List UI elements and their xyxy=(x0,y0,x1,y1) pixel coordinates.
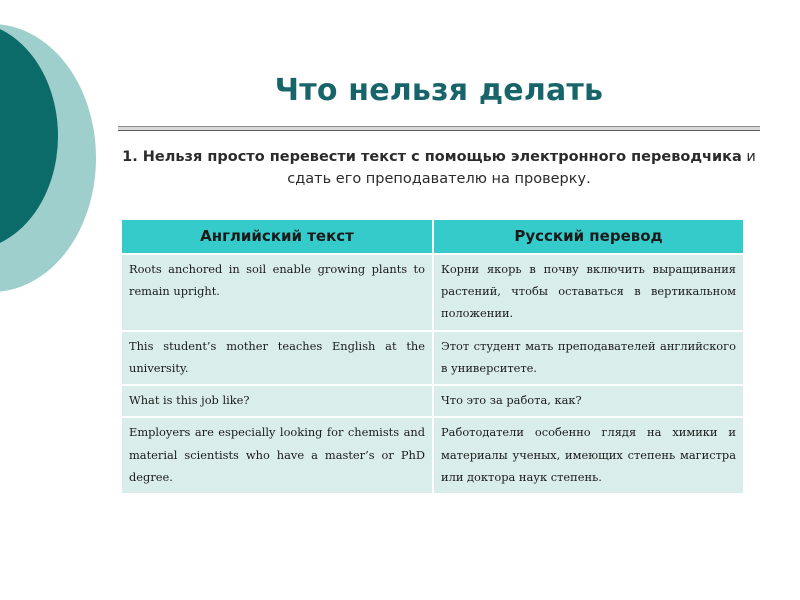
cell-english: What is this job like? xyxy=(122,386,432,416)
table-header-row: Английский текст Русский перевод xyxy=(122,220,743,253)
cell-english: This student’s mother teaches English at… xyxy=(122,332,432,384)
page-title: Что нельзя делать xyxy=(118,74,760,107)
cell-russian: Что это за работа, как? xyxy=(434,386,743,416)
cell-english: Employers are especially looking for che… xyxy=(122,418,432,493)
subtitle-text: 1. Нельзя просто перевести текст с помощ… xyxy=(118,146,760,191)
table-row: Roots anchored in soil enable growing pl… xyxy=(122,255,743,330)
title-divider-rule xyxy=(118,126,760,131)
table-row: What is this job like? Что это за работа… xyxy=(122,386,743,416)
subtitle-bold-part: 1. Нельзя просто перевести текст с помощ… xyxy=(122,149,742,165)
table-row: Employers are especially looking for che… xyxy=(122,418,743,493)
translation-table: Английский текст Русский перевод Roots a… xyxy=(120,218,745,495)
column-header-russian: Русский перевод xyxy=(434,220,743,253)
cell-english: Roots anchored in soil enable growing pl… xyxy=(122,255,432,330)
cell-russian: Корни якорь в почву включить выращивания… xyxy=(434,255,743,330)
table-row: This student’s mother teaches English at… xyxy=(122,332,743,384)
cell-russian: Работодатели особенно глядя на химики и … xyxy=(434,418,743,493)
cell-russian: Этот студент мать преподавателей английс… xyxy=(434,332,743,384)
column-header-english: Английский текст xyxy=(122,220,432,253)
light-teal-circle-shape xyxy=(0,24,96,292)
dark-teal-circle-shape xyxy=(0,22,58,250)
